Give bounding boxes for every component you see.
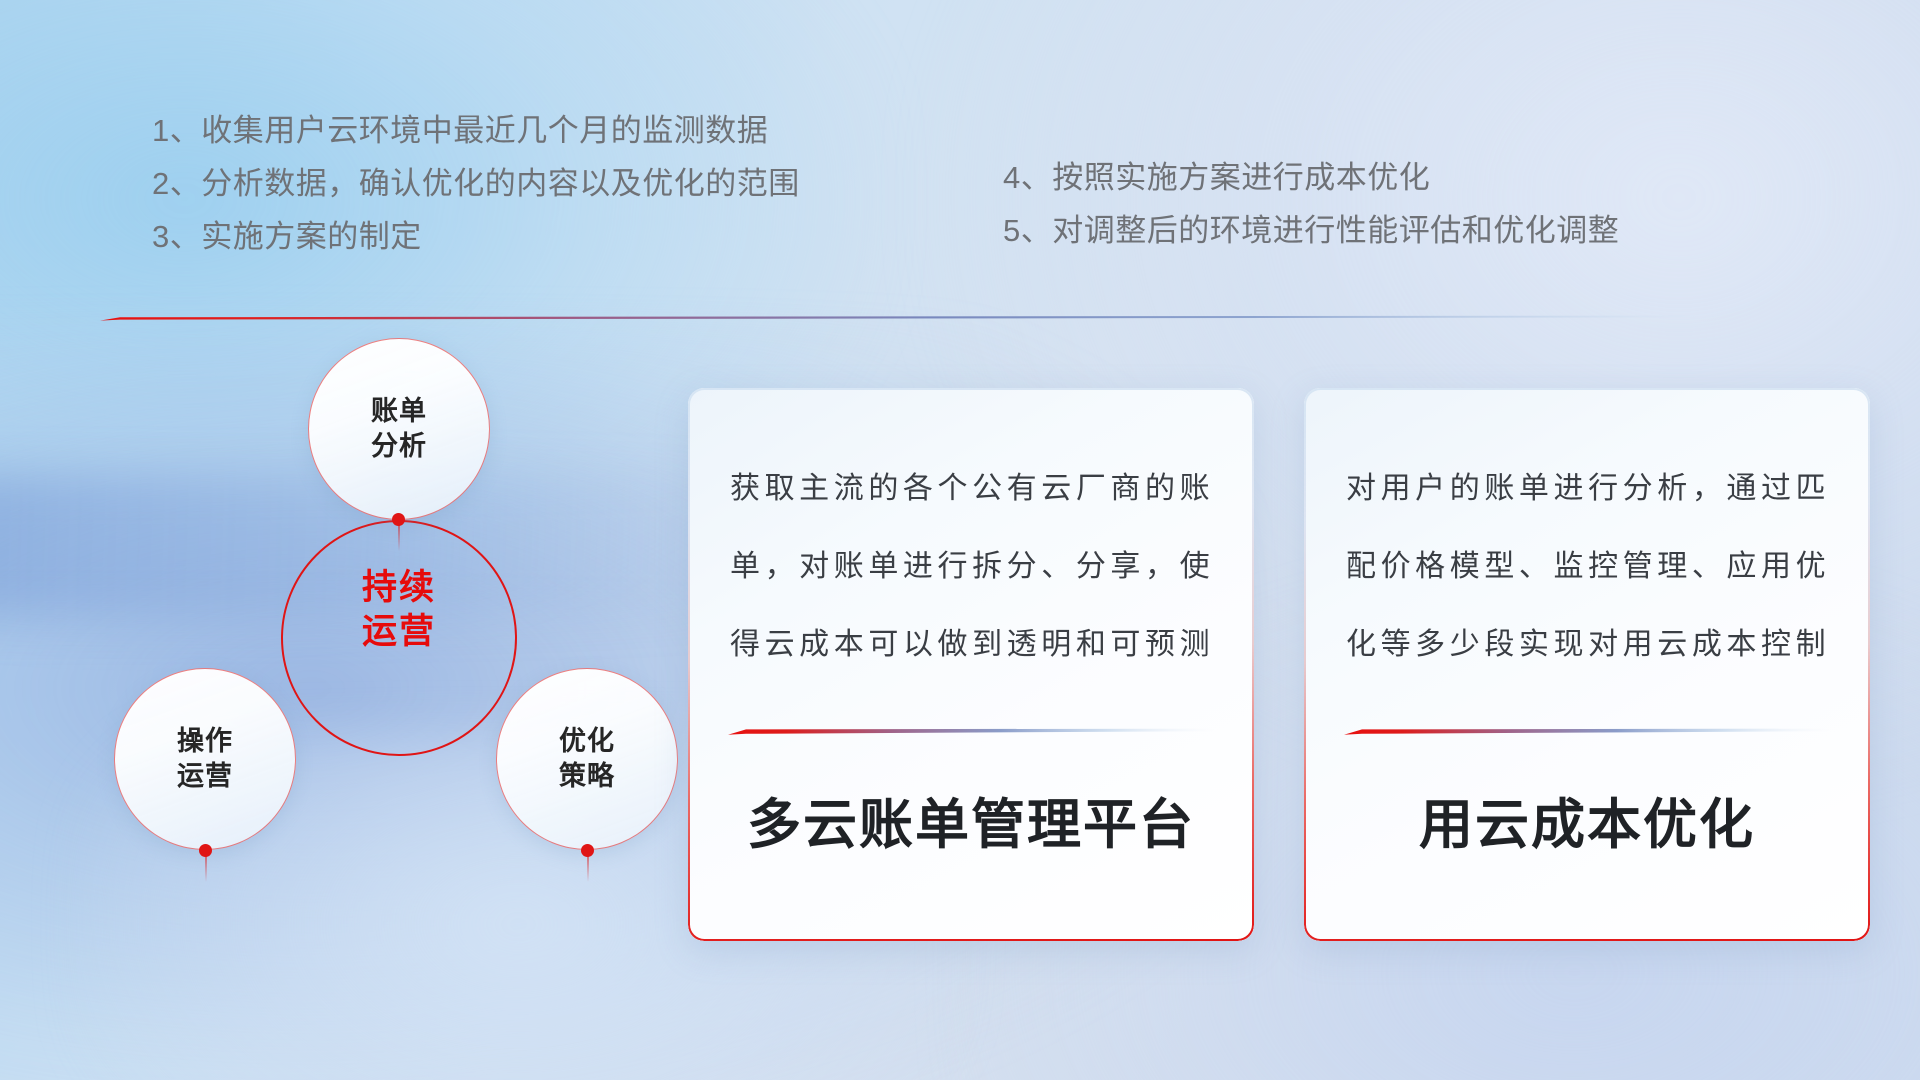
diagram-marker-tail-opt	[587, 856, 589, 882]
node-bill-line-1: 账单	[371, 394, 427, 429]
node-bill-line-2: 分析	[371, 429, 427, 464]
card-1-body-line-2: 单，对账单进行拆分、分享，使	[730, 528, 1210, 606]
diagram-node-optimization-strategy[interactable]: 优化 策略	[496, 668, 678, 850]
bullet-item-4: 4、按照实施方案进行成本优化	[1003, 151, 1619, 204]
card-multi-cloud-bill[interactable]: 获取主流的各个公有云厂商的账 单，对账单进行拆分、分享，使 得云成本可以做到透明…	[688, 388, 1254, 941]
diagram-marker-tail-bill	[398, 525, 400, 551]
center-label-line-2: 运营	[281, 610, 517, 654]
card-cloud-cost-optimization[interactable]: 对用户的账单进行分析，通过匹 配价格模型、监控管理、应用优 化等多少段实现对用云…	[1304, 388, 1870, 941]
node-ops-line-1: 操作	[177, 724, 233, 759]
diagram-marker-tail-ops	[205, 856, 207, 882]
bullet-item-5: 5、对调整后的环境进行性能评估和优化调整	[1003, 204, 1619, 257]
bullet-item-2: 2、分析数据，确认优化的内容以及优化的范围	[152, 157, 800, 210]
diagram-node-operations[interactable]: 操作 运营	[114, 668, 296, 850]
card-1-body: 获取主流的各个公有云厂商的账 单，对账单进行拆分、分享，使 得云成本可以做到透明…	[730, 450, 1210, 684]
card-2-divider-rule	[1344, 726, 1830, 736]
card-2-body-line-3: 化等多少段实现对用云成本控制	[1346, 606, 1826, 684]
bullet-item-3: 3、实施方案的制定	[152, 210, 800, 263]
node-ops-line-2: 运营	[177, 759, 233, 794]
center-label-line-1: 持续	[281, 566, 517, 610]
diagram-marker-dot-bill	[392, 513, 405, 526]
card-2-body-line-2: 配价格模型、监控管理、应用优	[1346, 528, 1826, 606]
node-opt-line-1: 优化	[559, 724, 615, 759]
card-2-body-line-1: 对用户的账单进行分析，通过匹	[1346, 450, 1826, 528]
card-1-divider-rule	[728, 726, 1214, 736]
diagram-marker-dot-opt	[581, 844, 594, 857]
card-1-body-line-1: 获取主流的各个公有云厂商的账	[730, 450, 1210, 528]
bullet-list-left: 1、收集用户云环境中最近几个月的监测数据 2、分析数据，确认优化的内容以及优化的…	[152, 104, 800, 263]
card-1-body-line-3: 得云成本可以做到透明和可预测	[730, 606, 1210, 684]
diagram-center-label: 持续 运营	[281, 566, 517, 654]
bullet-item-1: 1、收集用户云环境中最近几个月的监测数据	[152, 104, 800, 157]
bullet-lists: 1、收集用户云环境中最近几个月的监测数据 2、分析数据，确认优化的内容以及优化的…	[0, 104, 1920, 284]
card-1-title: 多云账单管理平台	[688, 780, 1254, 859]
continuous-operations-diagram: 持续 运营 账单 分析 操作 运营 优化 策略	[96, 348, 676, 968]
diagram-marker-dot-ops	[199, 844, 212, 857]
node-opt-line-2: 策略	[559, 759, 615, 794]
card-2-body: 对用户的账单进行分析，通过匹 配价格模型、监控管理、应用优 化等多少段实现对用云…	[1346, 450, 1826, 684]
bullet-list-right: 4、按照实施方案进行成本优化 5、对调整后的环境进行性能评估和优化调整	[1003, 151, 1619, 257]
card-2-title: 用云成本优化	[1304, 780, 1870, 859]
header-divider-rule	[100, 312, 1700, 322]
diagram-node-bill-analysis[interactable]: 账单 分析	[308, 338, 490, 520]
